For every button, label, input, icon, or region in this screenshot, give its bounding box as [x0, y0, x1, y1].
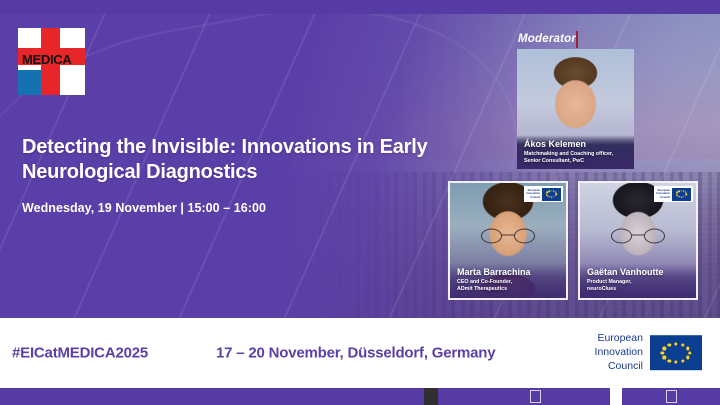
- eu-flag-icon: [650, 335, 702, 370]
- event-hashtag: #EICatMEDICA2025: [12, 345, 148, 362]
- medica-logo: MEDICA: [18, 28, 85, 95]
- eic-badge-text: EuropeanInnovationCouncil: [656, 189, 670, 199]
- moderator-name-bar: Ákos Kelemen Matchmaking and Coaching of…: [517, 135, 634, 169]
- strip-box-decoration: [530, 390, 541, 403]
- eic-logo-text: European Innovation Council: [595, 332, 643, 374]
- strip-segment: [438, 388, 610, 405]
- eu-flag-icon: [672, 188, 691, 201]
- session-title: Detecting the Invisible: Innovations in …: [22, 135, 492, 185]
- strip-box-decoration: [666, 390, 677, 403]
- speaker-card-marta-barrachina[interactable]: EuropeanInnovationCouncil Marta Barrachi…: [448, 181, 568, 300]
- session-datetime: Wednesday, 19 November | 15:00 – 16:00: [22, 201, 492, 215]
- moderator-label: Moderator: [518, 33, 576, 45]
- speaker-name-bar: Marta Barrachina CEO and Co-Founder,ADmi…: [450, 263, 566, 298]
- speaker-card-gaetan-vanhoutte[interactable]: EuropeanInnovationCouncil Gaëtan Vanhout…: [578, 181, 698, 300]
- speaker-role: Product Manager,neuroClues: [587, 279, 690, 293]
- speaker-name: Marta Barrachina: [457, 267, 560, 277]
- glasses-icon: [481, 228, 535, 243]
- event-dates-location: 17 – 20 November, Düsseldorf, Germany: [216, 345, 495, 362]
- eic-badge-text: EuropeanInnovationCouncil: [526, 189, 540, 199]
- moderator-tick-decoration: [576, 31, 578, 48]
- eic-badge: EuropeanInnovationCouncil: [524, 186, 563, 202]
- logo-blue-square: [18, 70, 41, 95]
- strip-segment: [0, 388, 424, 405]
- footer-bar: #EICatMEDICA2025 17 – 20 November, Düsse…: [0, 318, 720, 388]
- moderator-role: Matchmaking and Coaching officer, Senior…: [524, 151, 628, 165]
- speaker-card-moderator[interactable]: Ákos Kelemen Matchmaking and Coaching of…: [517, 49, 634, 169]
- strip-dark-gap: [424, 388, 438, 405]
- eic-logo: European Innovation Council: [595, 332, 702, 374]
- footer-purple-strip: [0, 388, 720, 405]
- top-purple-strip: [0, 0, 720, 14]
- speaker-name: Gaëtan Vanhoutte: [587, 267, 690, 277]
- presentation-slide: MEDICA Detecting the Invisible: Innovati…: [0, 0, 720, 405]
- eu-flag-icon: [542, 188, 561, 201]
- eic-badge: EuropeanInnovationCouncil: [654, 186, 693, 202]
- glasses-icon: [611, 228, 665, 243]
- title-block: Detecting the Invisible: Innovations in …: [22, 135, 492, 215]
- speaker-name-bar: Gaëtan Vanhoutte Product Manager,neuroCl…: [580, 263, 696, 298]
- speaker-role: CEO and Co-Founder,ADmit Therapeutics: [457, 279, 560, 293]
- moderator-name: Ákos Kelemen: [524, 139, 628, 149]
- logo-wordmark: MEDICA: [22, 53, 71, 66]
